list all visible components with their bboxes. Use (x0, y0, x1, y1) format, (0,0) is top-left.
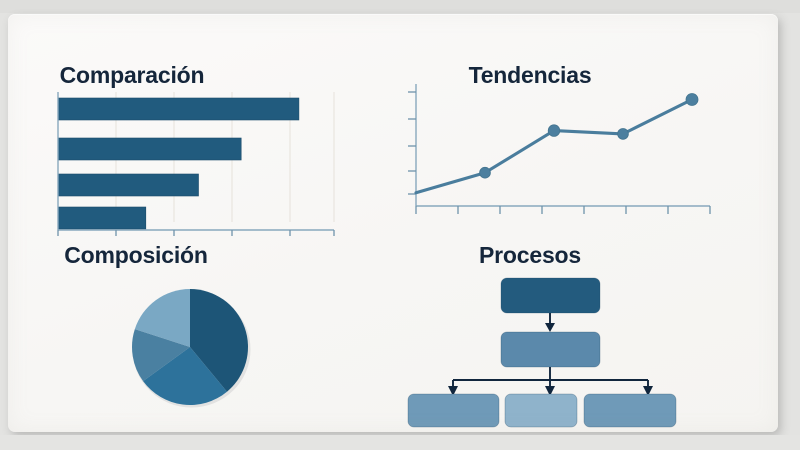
canvas-bottom-shade (0, 435, 800, 450)
line-marker-4 (618, 129, 629, 140)
panel-title-tendencias: Tendencias (352, 62, 708, 89)
bar-series-1-item-1 (58, 98, 299, 120)
flow-node-n5 (584, 394, 676, 427)
panel-comparacion: Comparación (26, 44, 382, 234)
panel-title-comparacion: Comparación (0, 62, 310, 89)
bar-series-1-item-4 (58, 207, 146, 229)
line-marker-5 (686, 94, 698, 106)
flow-arrowhead-n1-n2 (545, 323, 555, 332)
flow-node-n3 (408, 394, 499, 427)
flow-node-n1 (501, 278, 600, 313)
flow-node-n2 (501, 332, 600, 367)
bar-series-1-item-2 (58, 138, 241, 160)
panel-title-procesos: Procesos (352, 242, 708, 269)
panel-title-composicion: Composición (0, 242, 314, 269)
panel-procesos: Procesos (390, 236, 746, 432)
line-marker-3 (548, 125, 560, 137)
line-marker-2 (480, 167, 491, 178)
flow-node-n4 (505, 394, 577, 427)
slide-card: Comparación (8, 14, 778, 432)
canvas-top-shade (0, 0, 800, 13)
panel-tendencias: Tendencias (390, 44, 746, 234)
bar-series-1-item-3 (58, 174, 199, 196)
line-series-1 (416, 100, 692, 193)
panel-composicion: Composición (26, 236, 382, 432)
slide-canvas: Comparación (0, 0, 800, 450)
